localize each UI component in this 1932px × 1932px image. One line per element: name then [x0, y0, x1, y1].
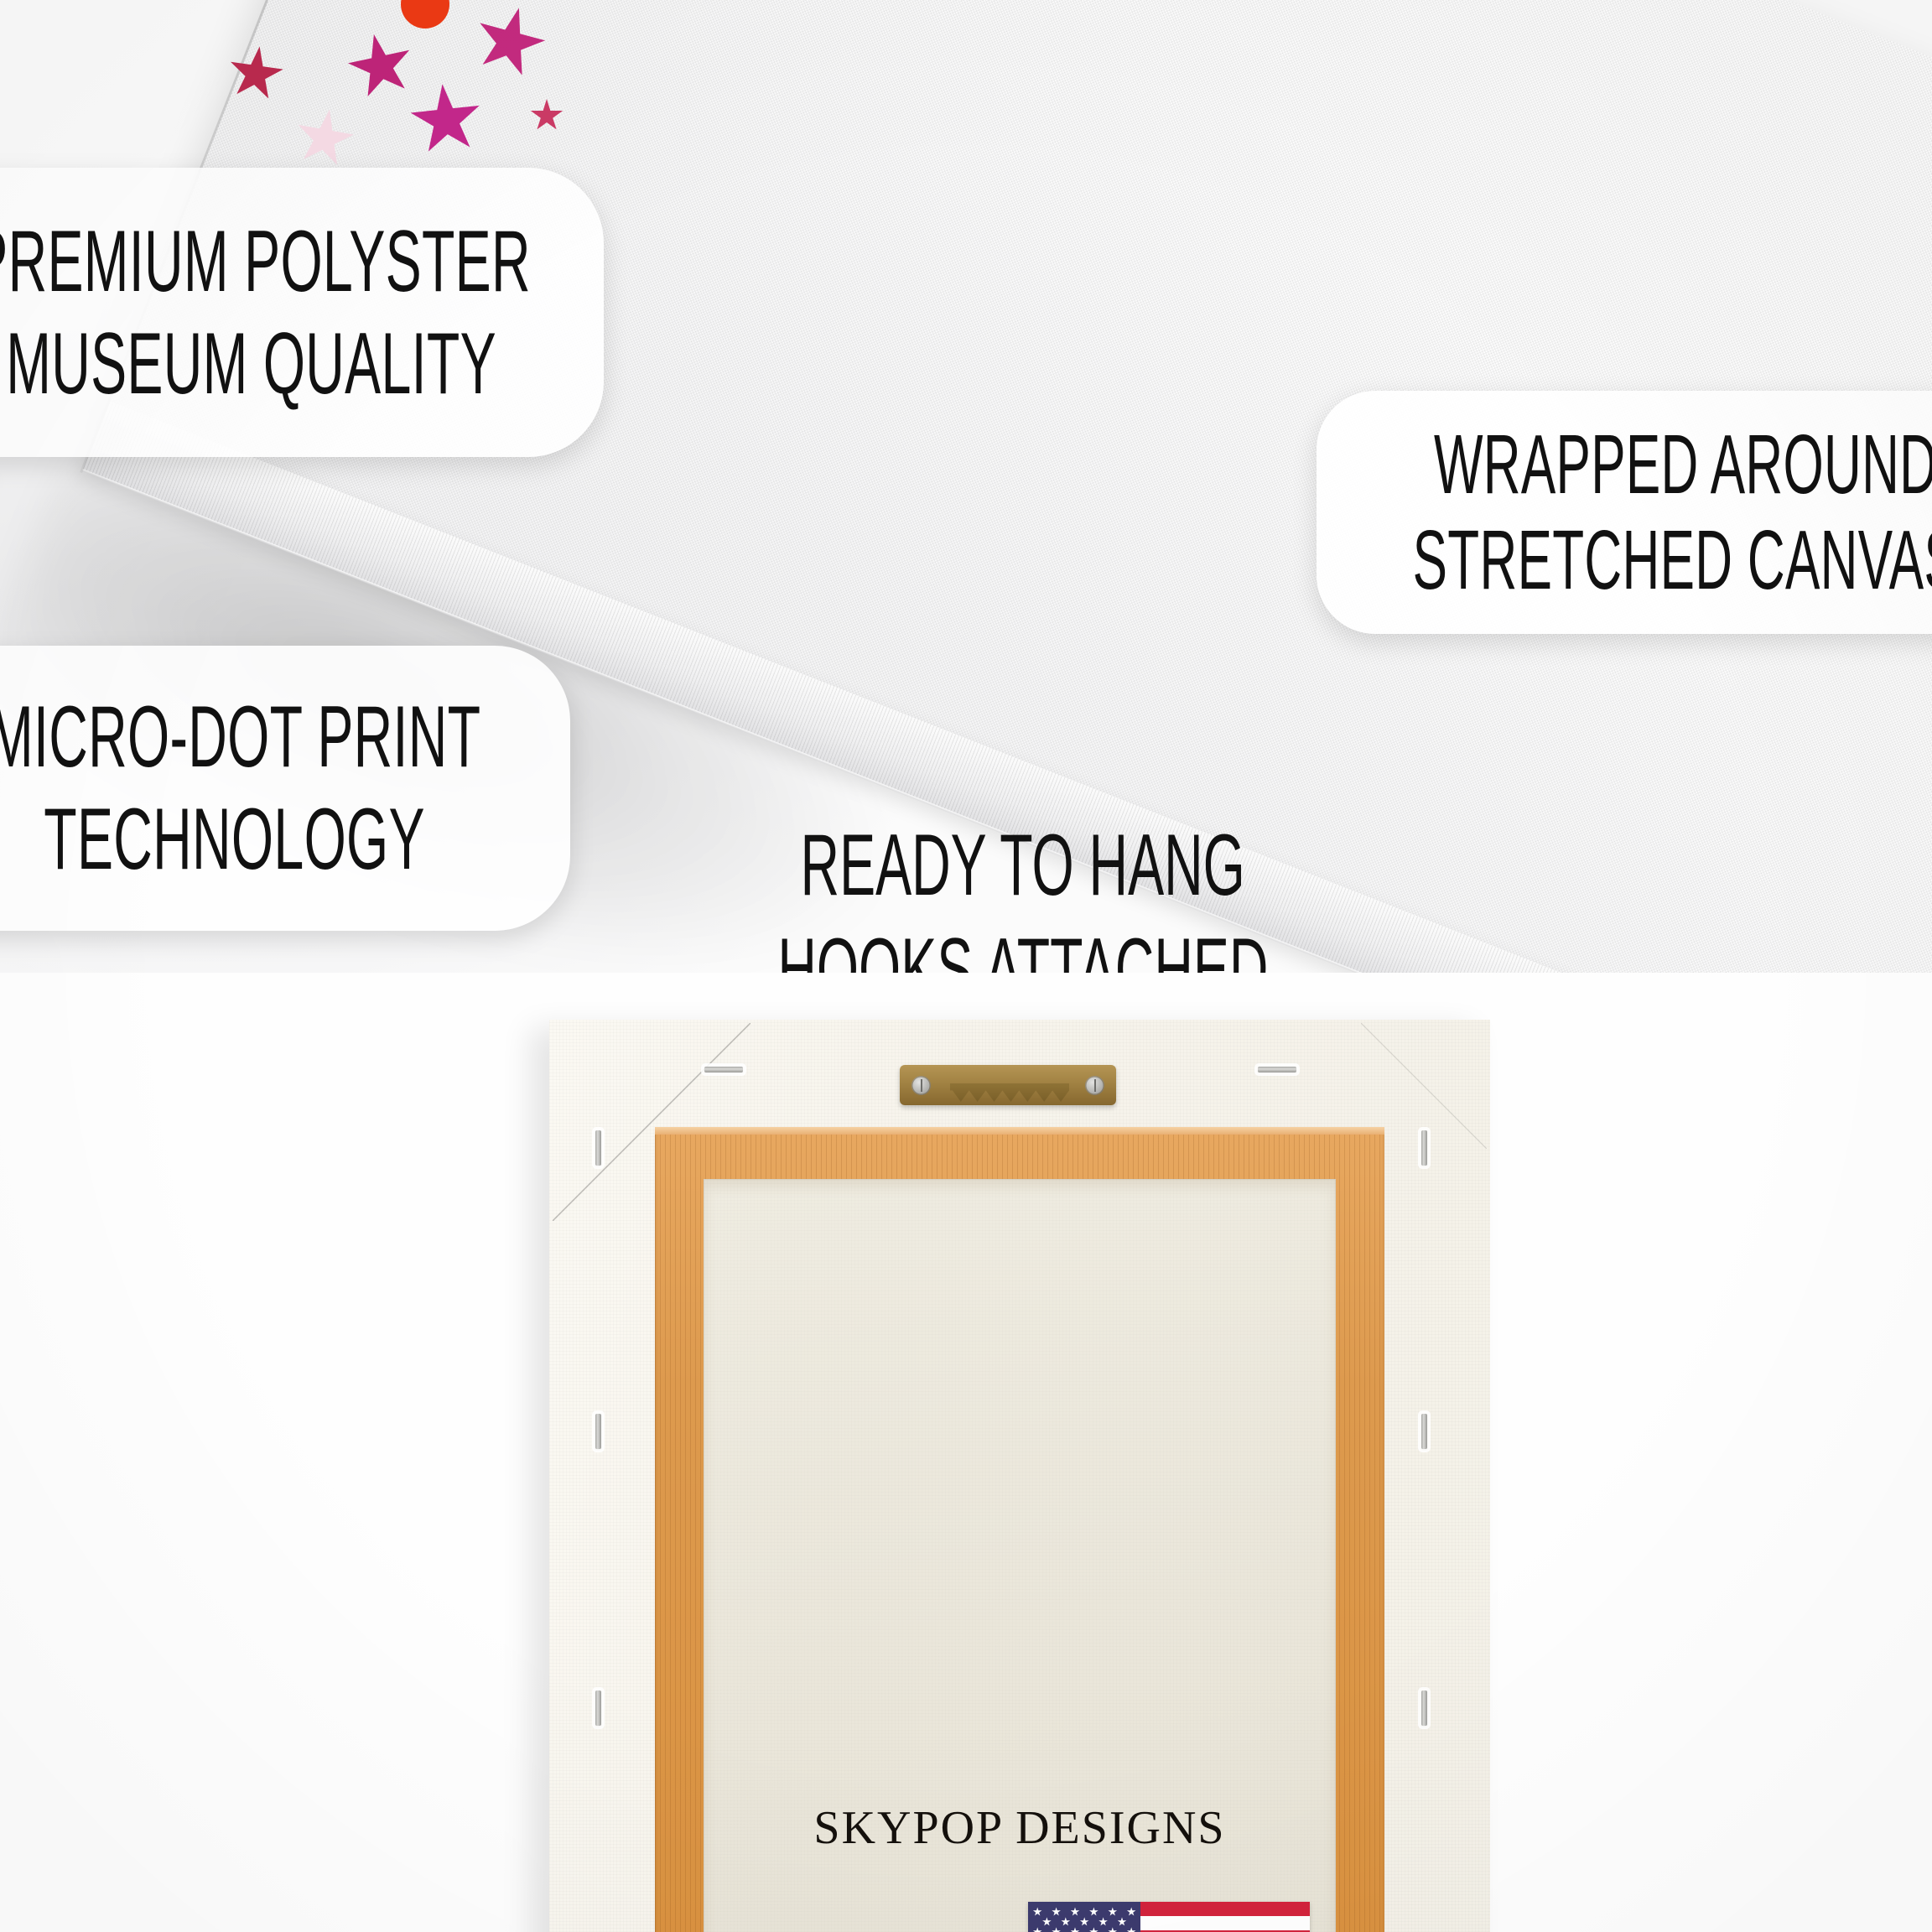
flag-star — [1061, 1917, 1070, 1926]
flag-star — [1071, 1907, 1080, 1916]
feature-line-1: PREMIUM POLYSTER — [0, 218, 531, 305]
feature-line-1: READY TO HANG — [801, 822, 1245, 909]
canvas-back-surface: SKYPOP DESIGNS — [704, 1179, 1336, 1932]
flag-star — [1089, 1907, 1098, 1916]
flag-star — [1071, 1927, 1080, 1932]
feature-pill-micro-dot-print: MICRO-DOT PRINT TECHNOLOGY — [0, 646, 570, 931]
united-states-flag-icon — [1028, 1902, 1310, 1932]
canvas-staple — [1421, 1690, 1427, 1726]
flag-star — [1098, 1917, 1108, 1926]
confetti-star-icon — [342, 28, 420, 106]
confetti-star-icon — [225, 43, 288, 106]
flag-star — [1108, 1907, 1117, 1916]
hanger-sawtooth-teeth — [950, 1083, 1069, 1102]
infographic-stage: PREMIUM POLYSTER MUSEUM QUALITY MICRO-DO… — [0, 0, 1932, 1932]
brand-name: SKYPOP DESIGNS — [704, 1801, 1336, 1855]
confetti-star-icon — [467, 0, 553, 85]
feature-line-2: TECHNOLOGY — [44, 796, 426, 883]
flag-star — [1127, 1907, 1136, 1916]
flag-star — [1080, 1917, 1089, 1926]
wooden-stretcher-bar: SKYPOP DESIGNS — [655, 1127, 1384, 1932]
feature-line-2: STRETCHED CANVAS — [1412, 518, 1932, 602]
flag-star — [1118, 1917, 1127, 1926]
canvas-staple — [704, 1067, 743, 1072]
canvas-staple — [595, 1414, 601, 1449]
canvas-staple — [1258, 1067, 1296, 1072]
feature-pill-wrapped-around: WRAPPED AROUND STRETCHED CANVAS — [1317, 391, 1932, 634]
confetti-dot-icon — [401, 0, 449, 29]
hanger-screw-left — [911, 1076, 931, 1095]
canvas-back-assembly: SKYPOP DESIGNS — [549, 1020, 1490, 1932]
flag-star — [1089, 1927, 1098, 1932]
flag-star — [1033, 1927, 1042, 1932]
confetti-star-icon — [290, 104, 358, 172]
flag-canton — [1028, 1902, 1140, 1932]
hanger-screw-right — [1085, 1076, 1104, 1095]
feature-line-1: WRAPPED AROUND — [1434, 423, 1932, 506]
flag-star — [1127, 1927, 1136, 1932]
feature-pill-premium-polyster: PREMIUM POLYSTER MUSEUM QUALITY — [0, 168, 604, 457]
confetti-star-icon — [530, 99, 563, 132]
canvas-back-photo: SKYPOP DESIGNS — [0, 973, 1932, 1932]
flag-star — [1052, 1927, 1061, 1932]
flag-star — [1052, 1907, 1061, 1916]
flag-star — [1042, 1917, 1052, 1926]
canvas-staple — [1421, 1414, 1427, 1449]
feature-line-1: MICRO-DOT PRINT — [0, 693, 481, 781]
canvas-staple — [1421, 1130, 1427, 1166]
canvas-staple — [595, 1130, 601, 1166]
canvas-staple — [595, 1690, 601, 1726]
confetti-star-icon — [407, 80, 486, 160]
sawtooth-hanger — [900, 1065, 1116, 1105]
flag-star — [1108, 1927, 1117, 1932]
feature-line-2: MUSEUM QUALITY — [7, 320, 497, 408]
flag-star — [1033, 1907, 1042, 1916]
